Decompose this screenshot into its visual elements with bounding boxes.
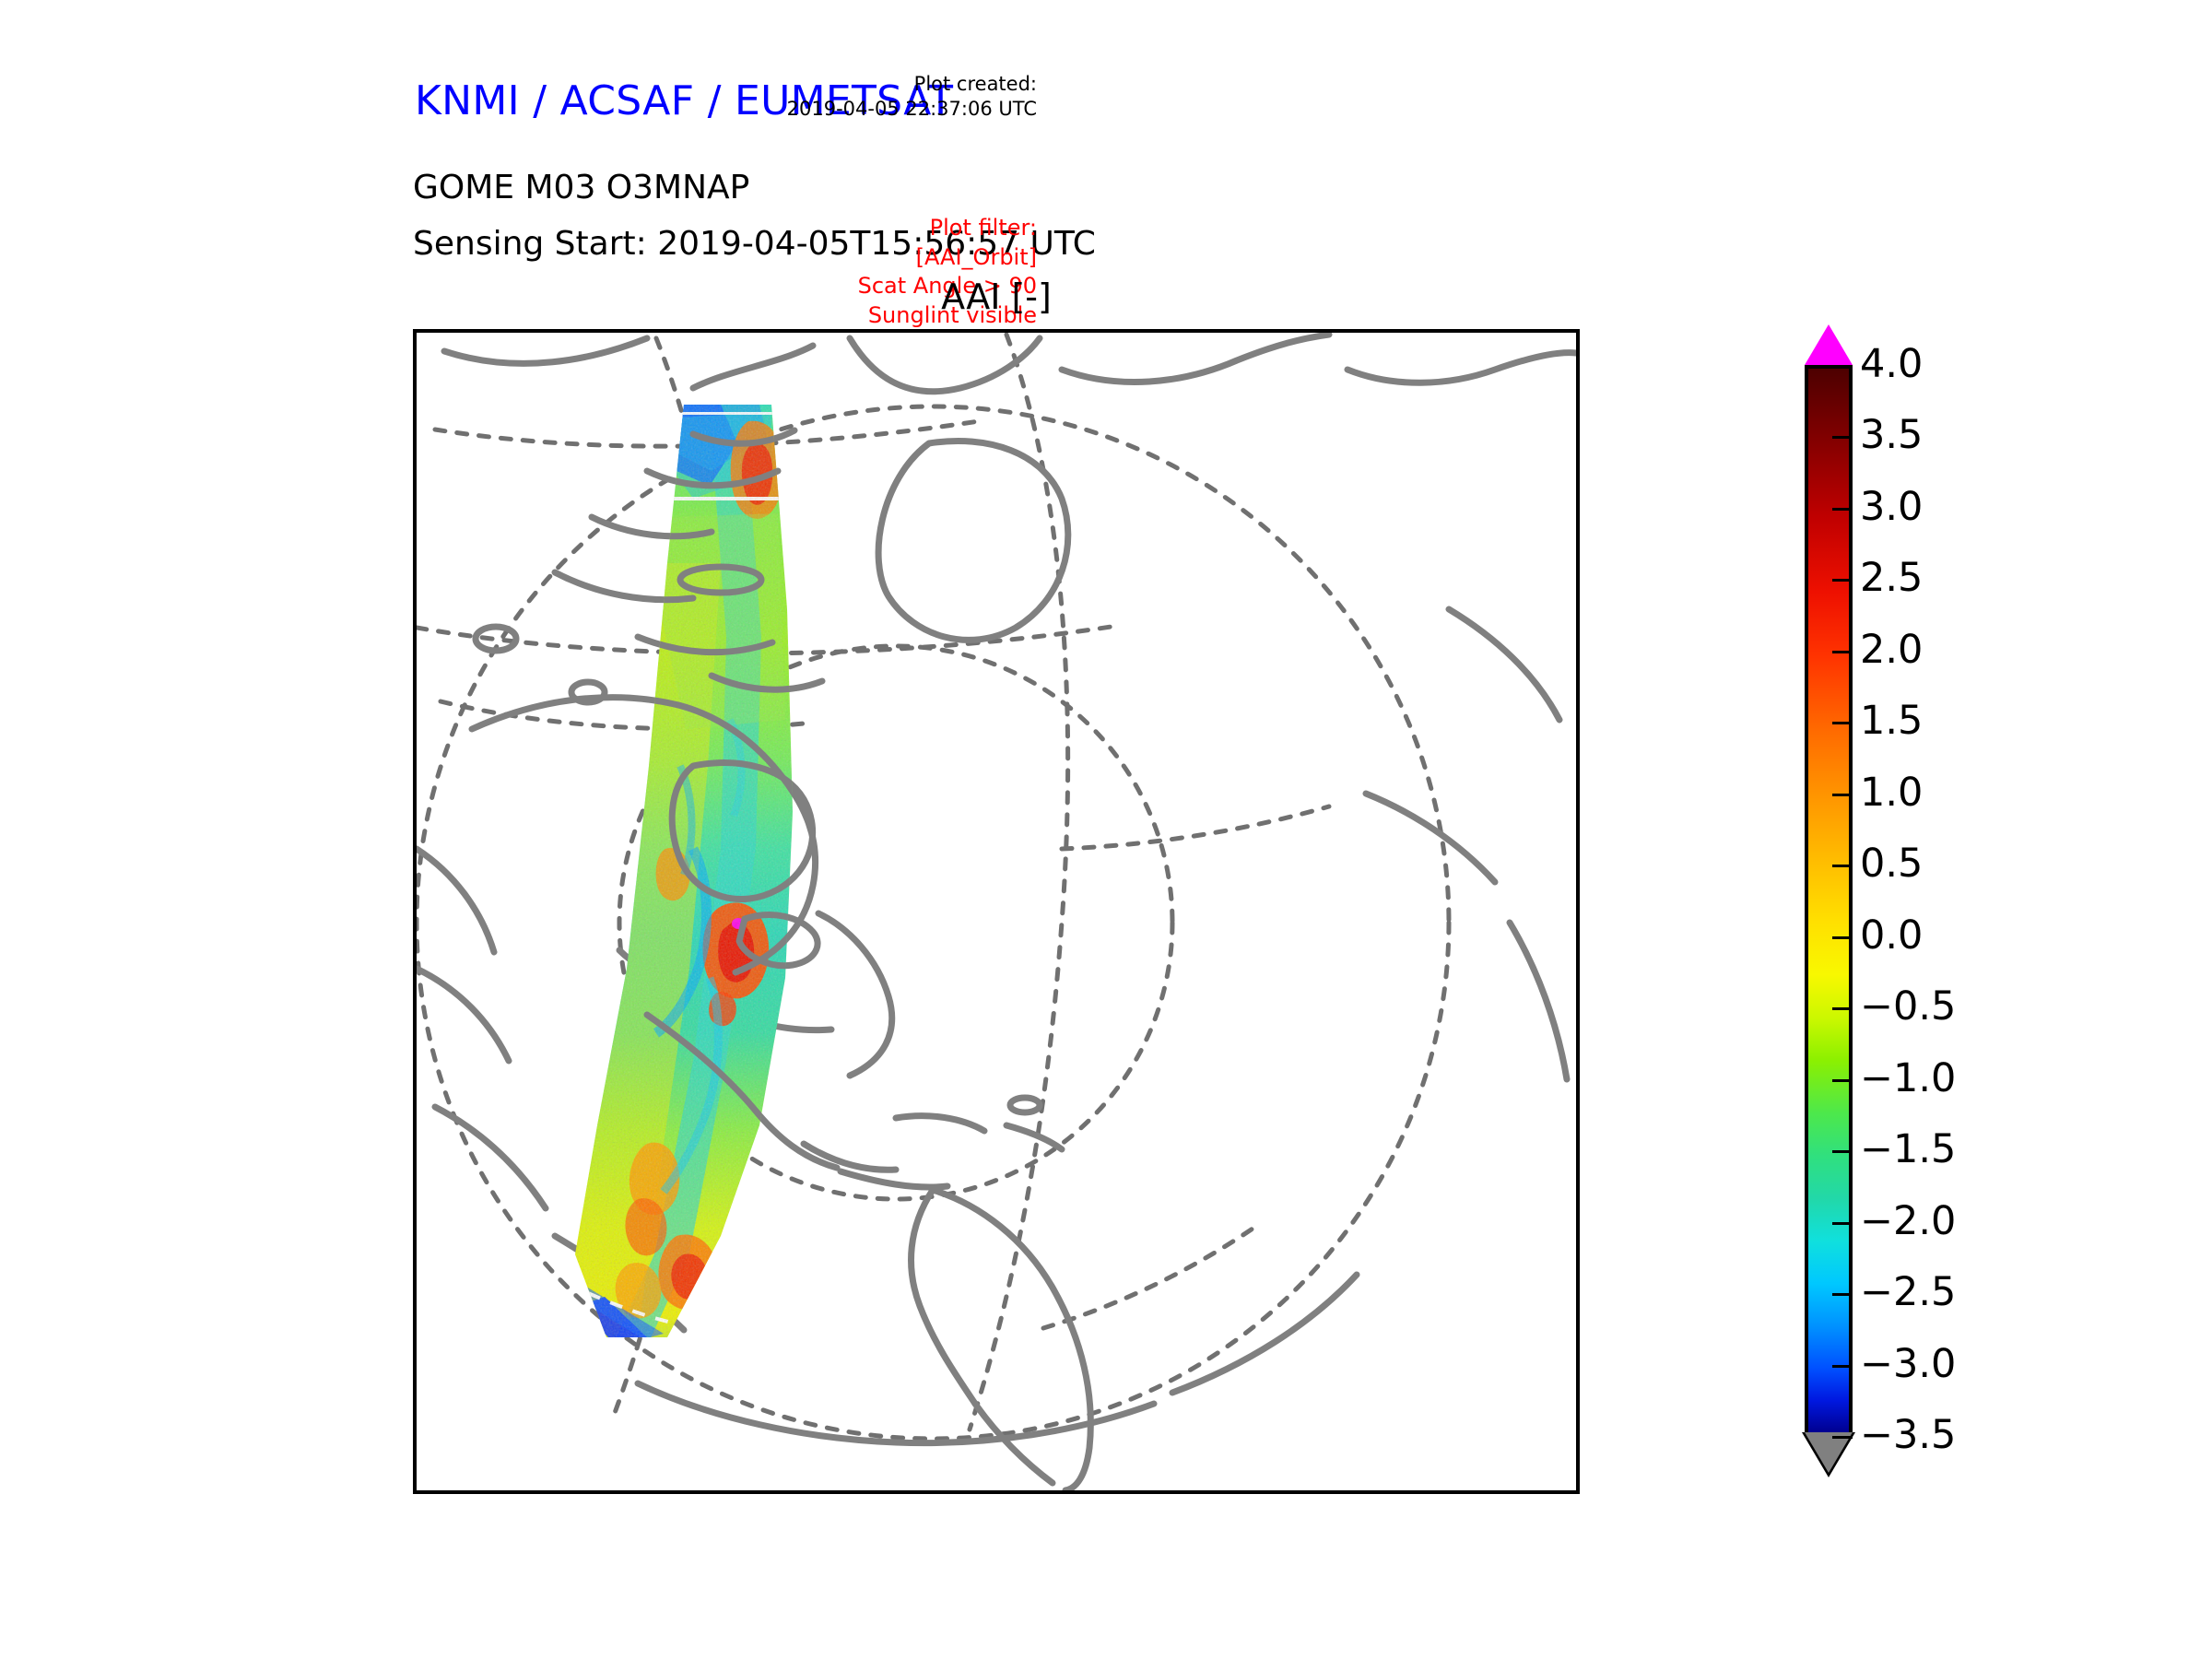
colorbar-tick — [1832, 436, 1853, 439]
colorbar-tick — [1832, 651, 1853, 653]
colorbar-tick-label: −2.5 — [1860, 1273, 1956, 1312]
colorbar-tick — [1832, 936, 1853, 939]
colorbar-tick-label: −2.0 — [1860, 1202, 1956, 1241]
colorbar-tick-label: 3.5 — [1860, 416, 1923, 455]
colorbar-tick-label: 0.5 — [1860, 844, 1923, 884]
colorbar-tick-label: 3.0 — [1860, 488, 1923, 527]
colorbar-tick — [1832, 1007, 1853, 1010]
colorbar-over-arrow — [1805, 324, 1853, 365]
plot-created-value: 2019-04-05 22:37:06 UTC — [787, 97, 1037, 122]
colorbar-tick — [1832, 865, 1853, 867]
plot-created-block: Plot created: 2019-04-05 22:37:06 UTC — [787, 72, 1037, 122]
colorbar-tick-label: 2.0 — [1860, 630, 1923, 670]
plot-filter-label: Plot filter: — [858, 214, 1037, 243]
colorbar-tick — [1832, 794, 1853, 796]
colorbar-tick-label: 4.0 — [1860, 345, 1923, 384]
colorbar-tick — [1832, 508, 1853, 511]
colorbar-tick-label: −1.0 — [1860, 1059, 1956, 1099]
colorbar-tick-label: 0.0 — [1860, 916, 1923, 956]
colorbar-tick — [1832, 1222, 1853, 1225]
colorbar-tick — [1832, 722, 1853, 724]
coastlines — [417, 335, 1576, 1490]
product-title: GOME M03 O3MNAP — [413, 169, 749, 206]
colorbar-tick-label: −3.0 — [1860, 1345, 1956, 1384]
colorbar-tick-label: 2.5 — [1860, 559, 1923, 598]
colorbar-tick — [1832, 579, 1853, 582]
colorbar-gradient — [1805, 365, 1853, 1436]
colorbar-tick-label: −3.5 — [1860, 1416, 1956, 1455]
plot-created-label: Plot created: — [787, 72, 1037, 97]
colorbar-tick — [1832, 365, 1853, 368]
colorbar: 4.03.53.02.52.01.51.00.50.0−0.5−1.0−1.5−… — [1799, 324, 2076, 1523]
colorbar-tick — [1832, 1436, 1853, 1439]
colorbar-tick-label: −1.5 — [1860, 1130, 1956, 1170]
colorbar-tick — [1832, 1079, 1853, 1082]
colorbar-tick — [1832, 1150, 1853, 1153]
graticule — [417, 335, 1449, 1439]
map-plot-area — [413, 329, 1580, 1494]
colorbar-tick-label: −0.5 — [1860, 987, 1956, 1027]
plot-title: AAI [-] — [413, 276, 1580, 317]
colorbar-tick-label: 1.0 — [1860, 773, 1923, 813]
map-canvas — [417, 333, 1576, 1490]
colorbar-tick — [1832, 1293, 1853, 1296]
plot-filter-name: [AAI_Orbit] — [858, 243, 1037, 273]
colorbar-tick — [1832, 1365, 1853, 1368]
colorbar-tick-label: 1.5 — [1860, 701, 1923, 741]
